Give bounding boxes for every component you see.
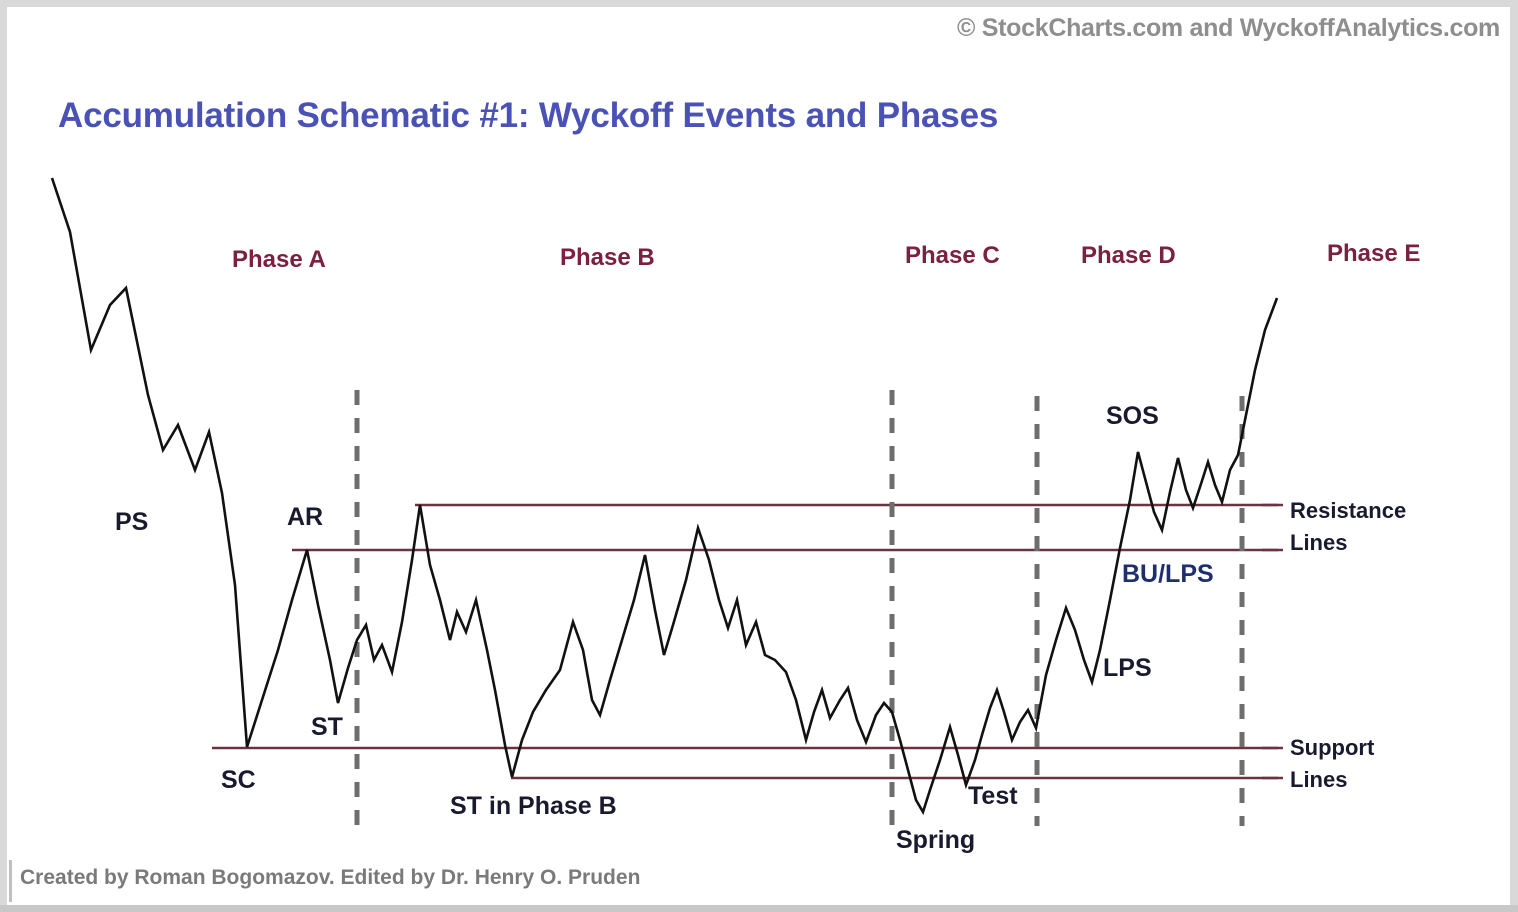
event-label-test: Test [968, 782, 1018, 811]
phase-label-a: Phase A [232, 246, 326, 274]
phase-label-e: Phase E [1327, 240, 1420, 268]
side-label-resistance-line1: Resistance [1290, 495, 1406, 527]
phase-label-d: Phase D [1081, 242, 1176, 270]
credit-line: Created by Roman Bogomazov. Edited by Dr… [20, 866, 640, 890]
event-label-spring: Spring [896, 826, 975, 855]
phase-label-b: Phase B [560, 244, 655, 272]
event-label-st: ST [311, 713, 343, 742]
event-label-lps: LPS [1103, 654, 1152, 683]
event-label-sos: SOS [1106, 402, 1159, 431]
wyckoff-accumulation-schematic: © StockCharts.com and WyckoffAnalytics.c… [0, 0, 1518, 912]
page-title: Accumulation Schematic #1: Wyckoff Event… [58, 96, 998, 136]
side-label-support-line1: Support [1290, 732, 1374, 764]
phase-label-c: Phase C [905, 242, 1000, 270]
side-label-support: SupportLines [1290, 732, 1374, 796]
side-label-support-line2: Lines [1290, 764, 1374, 796]
side-label-resistance: ResistanceLines [1290, 495, 1406, 559]
event-label-ps: PS [115, 508, 148, 537]
copyright-notice: © StockCharts.com and WyckoffAnalytics.c… [957, 14, 1500, 43]
event-label-st-b: ST in Phase B [450, 792, 617, 821]
event-label-bu-lps: BU/LPS [1122, 560, 1214, 589]
event-label-sc: SC [221, 766, 256, 795]
level-tick-marks-group [1262, 505, 1283, 778]
event-label-ar: AR [287, 503, 323, 532]
side-label-resistance-line2: Lines [1290, 527, 1406, 559]
